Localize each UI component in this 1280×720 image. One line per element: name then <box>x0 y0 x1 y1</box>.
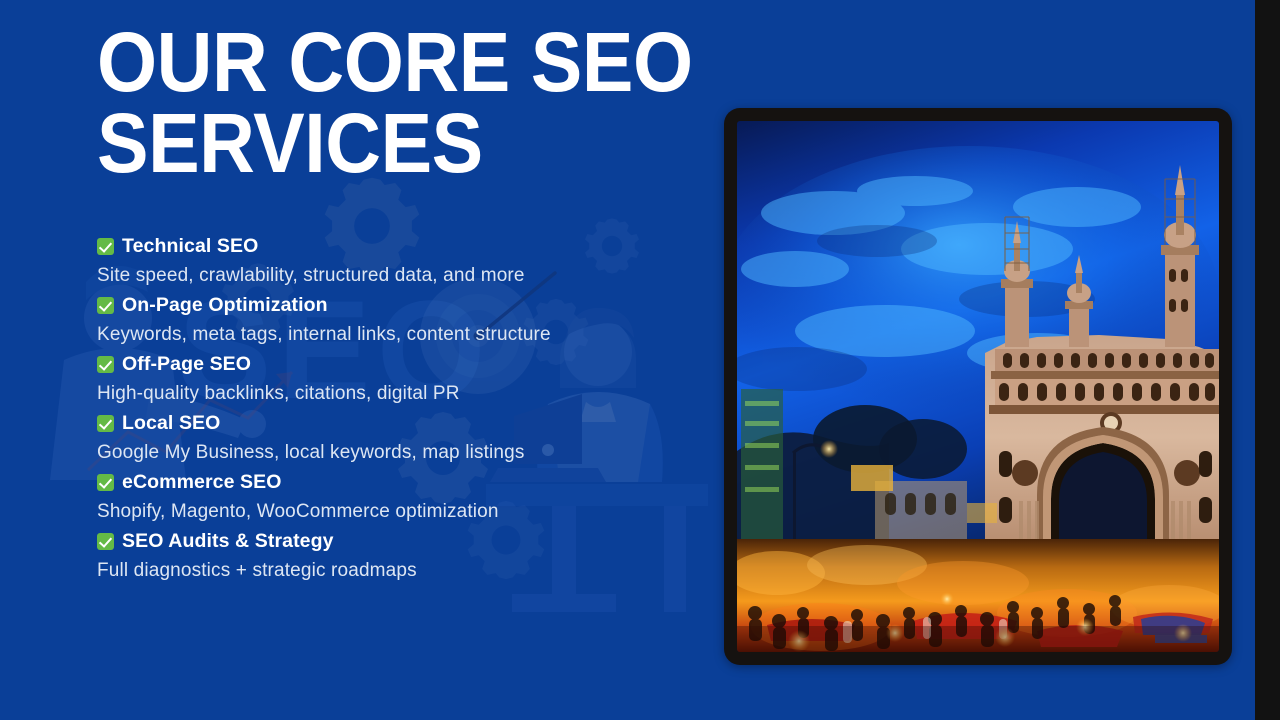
service-heading-row: SEO Audits & Strategy <box>97 527 687 555</box>
service-heading-row: eCommerce SEO <box>97 468 687 496</box>
list-item: Off-Page SEO High-quality backlinks, cit… <box>97 350 687 409</box>
green-check-icon <box>97 474 114 491</box>
service-title: SEO Audits & Strategy <box>122 530 334 553</box>
list-item: On-Page Optimization Keywords, meta tags… <box>97 291 687 350</box>
page-title: Our Core SEO Services <box>97 22 649 185</box>
list-item: Local SEO Google My Business, local keyw… <box>97 409 687 468</box>
content-column: Our Core SEO Services Technical SEO Site… <box>0 0 700 720</box>
service-description: High-quality backlinks, citations, digit… <box>97 379 597 409</box>
service-description: Keywords, meta tags, internal links, con… <box>97 320 597 350</box>
green-check-icon <box>97 297 114 314</box>
services-list: Technical SEO Site speed, crawlability, … <box>97 232 687 586</box>
right-letterbox-bar <box>1255 0 1280 720</box>
title-line-2: Services <box>97 103 649 184</box>
slide-canvas: SEO <box>0 0 1280 720</box>
service-description: Google My Business, local keywords, map … <box>97 438 597 468</box>
service-title: Off-Page SEO <box>122 353 251 376</box>
green-check-icon <box>97 533 114 550</box>
service-description: Shopify, Magento, WooCommerce optimizati… <box>97 497 597 527</box>
list-item: SEO Audits & Strategy Full diagnostics +… <box>97 527 687 586</box>
green-check-icon <box>97 356 114 373</box>
service-heading-row: Local SEO <box>97 409 687 437</box>
charminar-night-market-photo <box>737 121 1219 652</box>
service-description: Full diagnostics + strategic roadmaps <box>97 556 597 586</box>
photo-frame <box>724 108 1232 665</box>
service-description: Site speed, crawlability, structured dat… <box>97 261 597 291</box>
list-item: eCommerce SEO Shopify, Magento, WooComme… <box>97 468 687 527</box>
green-check-icon <box>97 415 114 432</box>
service-heading-row: On-Page Optimization <box>97 291 687 319</box>
service-title: On-Page Optimization <box>122 294 328 317</box>
title-line-1: Our Core SEO <box>97 22 649 103</box>
service-heading-row: Technical SEO <box>97 232 687 260</box>
list-item: Technical SEO Site speed, crawlability, … <box>97 232 687 291</box>
service-title: Local SEO <box>122 412 220 435</box>
green-check-icon <box>97 238 114 255</box>
service-title: Technical SEO <box>122 235 258 258</box>
service-title: eCommerce SEO <box>122 471 282 494</box>
service-heading-row: Off-Page SEO <box>97 350 687 378</box>
